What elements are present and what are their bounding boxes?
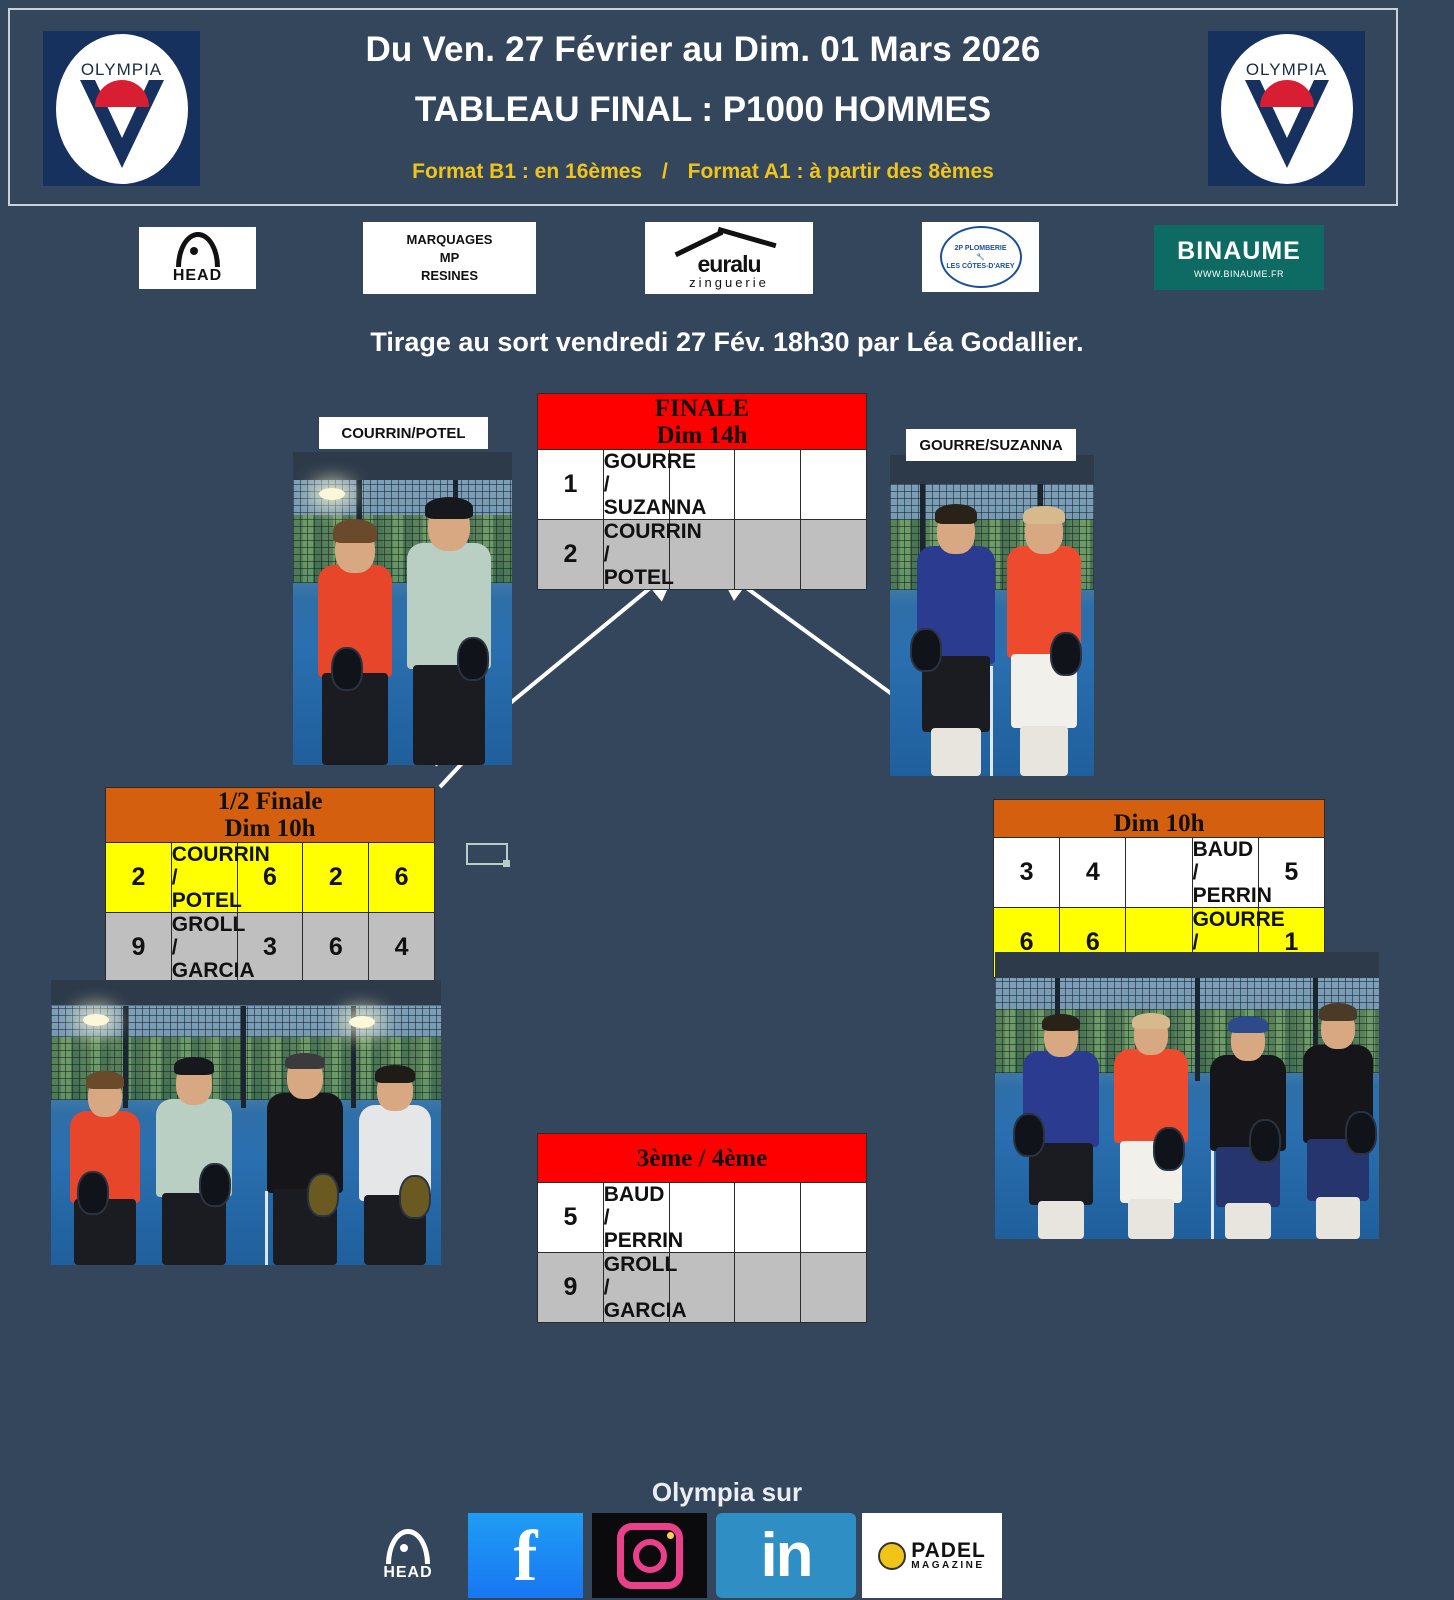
- bracket-third-place: 3ème / 4ème 5 BAUD / PERRIN 9 GROLL / GA…: [537, 1133, 867, 1323]
- semi-left-score-1-2: 2: [303, 843, 369, 913]
- third-score-1-3: [801, 1183, 867, 1253]
- third-score-2-2: [735, 1253, 801, 1323]
- final-score-2-3: [801, 520, 867, 590]
- padel-magazine-line1: PADEL: [911, 1541, 986, 1560]
- semi-left-score-2-3: 4: [369, 913, 435, 983]
- head-arc-icon: [176, 232, 220, 267]
- player-socks: [1225, 1203, 1271, 1239]
- bracket-semi-right-header-row: Dim 10h: [994, 800, 1325, 838]
- bracket-final-header-row: FINALE Dim 14h: [538, 394, 867, 450]
- semi-right-score-1-1: 3: [994, 838, 1060, 908]
- padel-racket-icon: [199, 1163, 231, 1207]
- draw-notice: Tirage au sort vendredi 27 Fév. 18h30 pa…: [0, 327, 1454, 358]
- sponsor-marquages-mp: MARQUAGES MP RESINES: [363, 222, 536, 294]
- sponsor-head: HEAD: [139, 227, 256, 289]
- format-separator: /: [648, 160, 682, 183]
- player-figure: [1013, 1011, 1109, 1239]
- player-socks: [1038, 1201, 1084, 1239]
- footer-head-logo[interactable]: HEAD: [358, 1513, 458, 1598]
- linkedin-link[interactable]: in: [716, 1513, 856, 1598]
- player-figure: [1201, 1015, 1295, 1239]
- player-figure: [351, 1057, 439, 1265]
- final-seed-1: 1: [538, 450, 604, 520]
- plomberie-seal-icon: 2P PLOMBERIE 🔧 LES CÔTES-D'AREY: [940, 226, 1022, 288]
- sponsor-2p-plomberie: 2P PLOMBERIE 🔧 LES CÔTES-D'AREY: [922, 222, 1039, 292]
- footer-title: Olympia sur: [0, 1477, 1454, 1508]
- page-title: TABLEAU FINAL : P1000 HOMMES: [10, 90, 1396, 130]
- bracket-semi-left-header-row: 1/2 Finale Dim 10h: [106, 788, 435, 843]
- padel-magazine-link[interactable]: PADEL MAGAZINE: [862, 1513, 1002, 1598]
- final-score-2-2: [735, 520, 801, 590]
- third-team-2: GROLL / GARCIA: [603, 1253, 669, 1323]
- bracket-semi-right-title: Dim 10h: [994, 800, 1325, 838]
- third-seed-2: 9: [538, 1253, 604, 1323]
- player-cap-icon: [174, 1057, 214, 1075]
- table-row: 5 BAUD / PERRIN: [538, 1183, 867, 1253]
- photo-label-gourre-suzanna: GOURRE/SUZANNA: [906, 429, 1076, 461]
- poster-header: OLYMPIA OLYMPIA Du Ven. 27 Février au Di…: [8, 8, 1398, 206]
- player-hair: [86, 1071, 124, 1089]
- table-row: 3 4 BAUD / PERRIN 5: [994, 838, 1325, 908]
- player-socks: [1020, 726, 1068, 776]
- photo-semi-right-teams: [995, 952, 1379, 1239]
- poster-canvas: OLYMPIA OLYMPIA Du Ven. 27 Février au Di…: [0, 0, 1454, 1600]
- photo-courrin-potel: [293, 452, 512, 765]
- court-lamp-icon: [83, 1014, 109, 1026]
- player-hair: [1042, 1014, 1080, 1031]
- semi-left-title-line1: 1/2 Finale: [106, 788, 434, 815]
- padel-racket-icon: [457, 637, 489, 681]
- fence-post: [241, 1006, 246, 1109]
- player-socks: [931, 728, 981, 776]
- semi-right-score-1-3: [1126, 838, 1192, 908]
- footer-head-label: HEAD: [383, 1564, 432, 1582]
- semi-left-team-2: GROLL / GARCIA: [171, 913, 237, 983]
- player-socks: [1316, 1197, 1360, 1239]
- player-figure: [1105, 1005, 1197, 1239]
- player-figure: [309, 515, 401, 765]
- final-score-1-2: [735, 450, 801, 520]
- sponsor-euralu: euralu zinguerie: [645, 222, 813, 294]
- bracket-third-title: 3ème / 4ème: [538, 1134, 867, 1183]
- sponsor-head-label: HEAD: [173, 267, 222, 285]
- photo-semi-left-teams: [51, 980, 441, 1265]
- player-figure: [259, 1043, 351, 1265]
- sponsor-mp-line2: MP: [440, 249, 460, 267]
- instagram-link[interactable]: [592, 1513, 707, 1598]
- player-hair: [1319, 1003, 1357, 1021]
- player-hair: [935, 504, 977, 524]
- third-score-1-2: [735, 1183, 801, 1253]
- padel-racket-icon: [77, 1171, 109, 1215]
- event-dates: Du Ven. 27 Février au Dim. 01 Mars 2026: [10, 30, 1396, 70]
- player-socks: [1128, 1199, 1174, 1239]
- court-lamp-icon: [349, 1016, 375, 1028]
- player-cap-icon: [425, 497, 473, 519]
- third-seed-1: 5: [538, 1183, 604, 1253]
- semi-left-title-line2: Dim 10h: [106, 815, 434, 842]
- padel-racket-icon: [399, 1175, 431, 1219]
- padel-racket-icon: [1050, 632, 1082, 676]
- padel-racket-icon: [307, 1173, 339, 1217]
- semi-left-seed-2: 9: [106, 913, 172, 983]
- third-team-1: BAUD / PERRIN: [603, 1183, 669, 1253]
- sponsor-binaume: BINAUME WWW.BINAUME.FR: [1154, 225, 1324, 290]
- third-score-2-3: [801, 1253, 867, 1323]
- player-hair: [1132, 1013, 1170, 1029]
- player-figure: [1295, 1001, 1379, 1239]
- player-figure: [61, 1065, 149, 1265]
- bracket-final-title-line1: FINALE: [538, 395, 866, 422]
- padel-ball-icon: [878, 1542, 906, 1570]
- player-hair: [285, 1053, 325, 1069]
- padel-racket-icon: [1013, 1113, 1045, 1157]
- table-row: 2 COURRIN / POTEL 6 2 6: [106, 843, 435, 913]
- bracket-final-title: FINALE Dim 14h: [538, 394, 867, 450]
- padel-racket-icon: [910, 628, 942, 672]
- facebook-icon: f: [514, 1520, 538, 1592]
- facebook-link[interactable]: f: [468, 1513, 583, 1598]
- table-row: 9 GROLL / GARCIA 3 6 4: [106, 913, 435, 983]
- linkedin-icon: in: [760, 1525, 811, 1587]
- semi-right-team-1: BAUD / PERRIN: [1192, 838, 1258, 908]
- head-arc-icon: [386, 1529, 430, 1564]
- padel-racket-icon: [331, 647, 363, 691]
- format-info: Format B1 : en 16èmes / Format A1 : à pa…: [10, 160, 1396, 184]
- player-hair: [333, 519, 377, 543]
- player-figure: [147, 1049, 241, 1265]
- bracket-final-title-line2: Dim 14h: [538, 422, 866, 449]
- bracket-third-header-row: 3ème / 4ème: [538, 1134, 867, 1183]
- photo-label-courrin-potel: COURRIN/POTEL: [319, 417, 488, 449]
- table-row: 9 GROLL / GARCIA: [538, 1253, 867, 1323]
- bracket-semi-left: 1/2 Finale Dim 10h 2 COURRIN / POTEL 6 2…: [105, 787, 435, 983]
- sponsor-mp-line3: RESINES: [421, 267, 478, 285]
- empty-cell-marker: [466, 843, 508, 865]
- wrench-icon: 🔧: [976, 253, 985, 262]
- photo-gourre-suzanna: [890, 455, 1094, 776]
- player-figure: [397, 487, 501, 765]
- padel-magazine-line2: MAGAZINE: [911, 1560, 986, 1571]
- semi-left-seed-1: 2: [106, 843, 172, 913]
- table-row: 1 GOURRE / SUZANNA: [538, 450, 867, 520]
- sponsor-euralu-sub: zinguerie: [689, 275, 769, 290]
- sponsor-plomberie-line2: LES CÔTES-D'AREY: [946, 262, 1014, 271]
- semi-right-score-1-2: 4: [1060, 838, 1126, 908]
- padel-magazine-logo: PADEL MAGAZINE: [878, 1541, 986, 1571]
- final-team-1: GOURRE / SUZANNA: [603, 450, 669, 520]
- roof-icon: [669, 227, 789, 253]
- semi-left-score-2-2: 6: [303, 913, 369, 983]
- padel-racket-icon: [1345, 1111, 1377, 1155]
- padel-racket-icon: [1249, 1119, 1281, 1163]
- final-seed-2: 2: [538, 520, 604, 590]
- court-lamp-icon: [319, 488, 345, 500]
- sponsor-plomberie-line1: 2P PLOMBERIE: [955, 244, 1007, 253]
- semi-left-score-1-3: 6: [369, 843, 435, 913]
- third-title-line1: 3ème / 4ème: [538, 1145, 866, 1172]
- semi-left-team-1: COURRIN / POTEL: [171, 843, 237, 913]
- sponsor-binaume-name: BINAUME: [1177, 237, 1301, 266]
- player-figure: [998, 498, 1090, 776]
- player-cap-icon: [1228, 1016, 1268, 1033]
- bracket-final: FINALE Dim 14h 1 GOURRE / SUZANNA 2 COUR…: [537, 393, 867, 590]
- sponsor-binaume-url: WWW.BINAUME.FR: [1194, 269, 1284, 279]
- final-score-1-3: [801, 450, 867, 520]
- player-figure: [908, 502, 1004, 776]
- final-team-2: COURRIN / POTEL: [603, 520, 669, 590]
- sponsor-euralu-name: euralu: [697, 253, 760, 275]
- player-hair: [375, 1065, 415, 1083]
- table-row: 2 COURRIN / POTEL: [538, 520, 867, 590]
- format-a1: Format A1 : à partir des 8èmes: [688, 160, 994, 183]
- semi-right-title-line2: Dim 10h: [994, 810, 1324, 837]
- instagram-icon: [617, 1523, 683, 1589]
- player-hair: [1023, 506, 1065, 524]
- padel-magazine-text: PADEL MAGAZINE: [911, 1541, 986, 1571]
- format-b1: Format B1 : en 16èmes: [412, 160, 642, 183]
- padel-racket-icon: [1153, 1127, 1185, 1171]
- bracket-semi-left-title: 1/2 Finale Dim 10h: [106, 788, 435, 843]
- sponsor-mp-line1: MARQUAGES: [407, 231, 493, 249]
